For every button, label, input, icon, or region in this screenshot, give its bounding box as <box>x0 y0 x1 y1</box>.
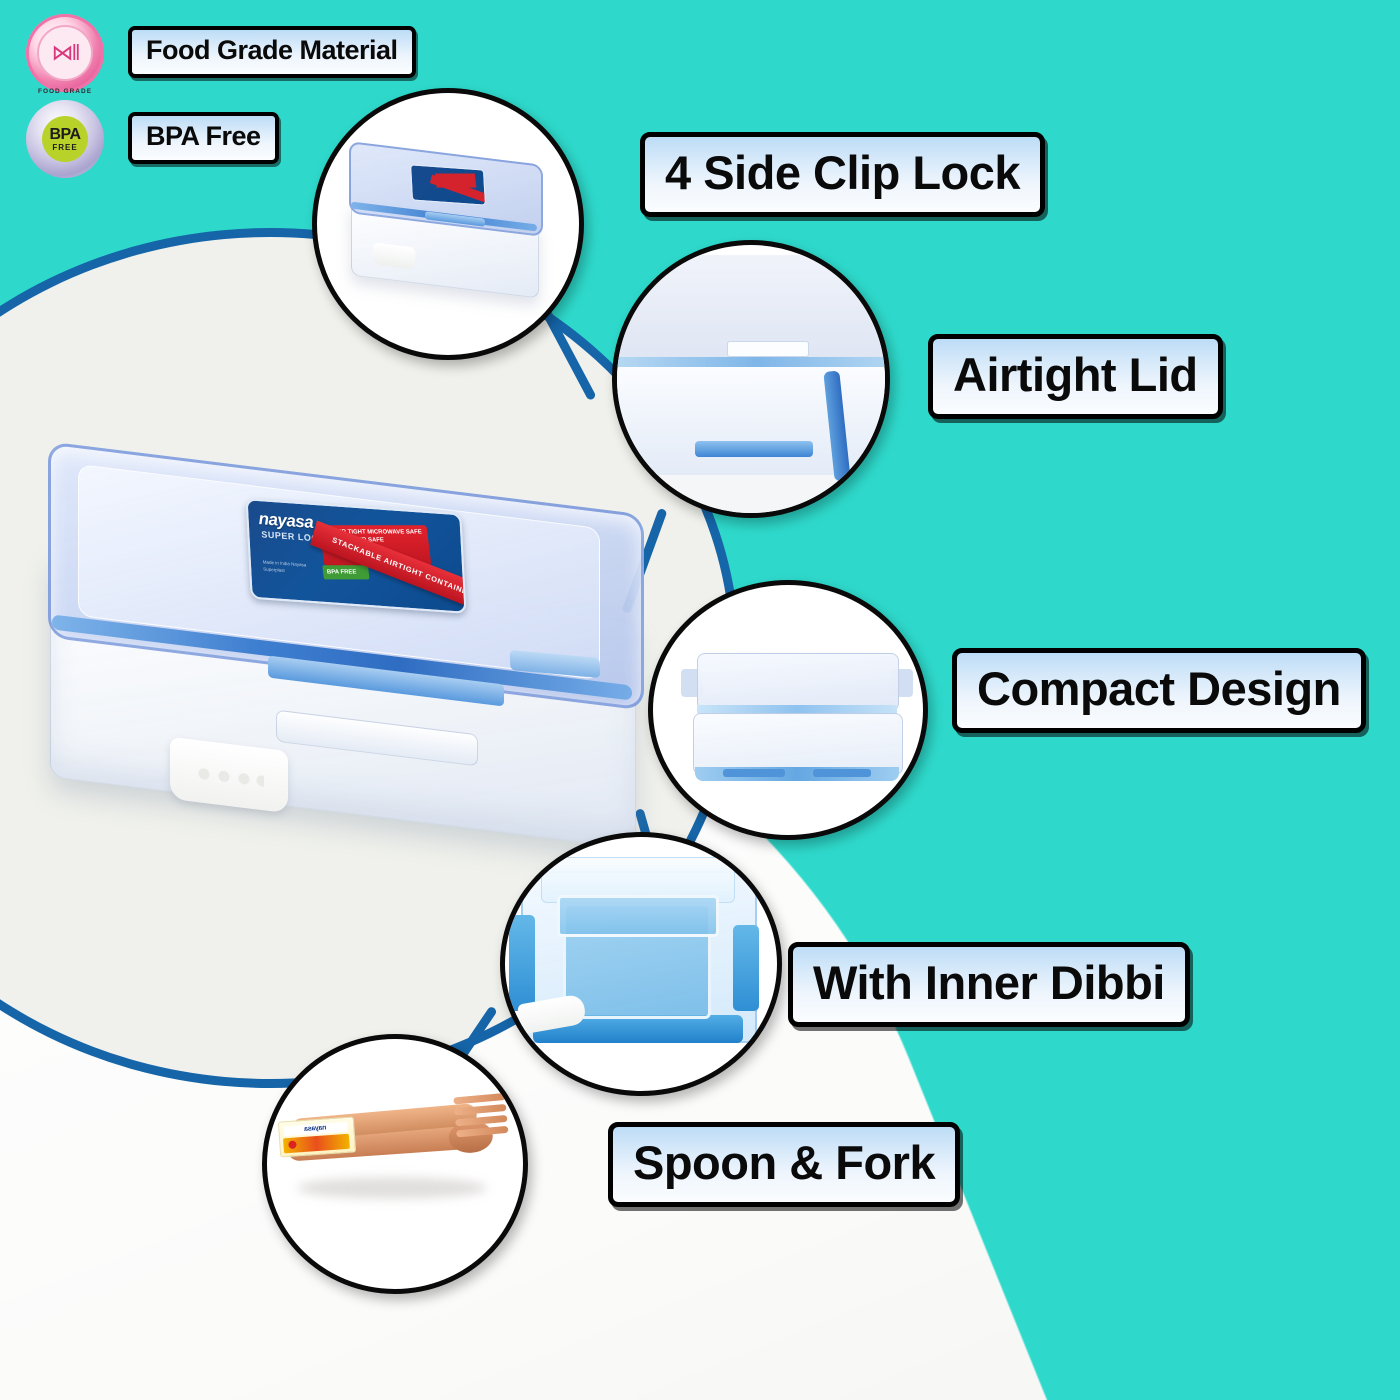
callout-circle-spoon-fork: nayasa <box>262 1034 528 1294</box>
sticker-green-text: BPA FREE <box>326 565 369 579</box>
feature-label-clip-lock: 4 Side Clip Lock <box>640 132 1045 217</box>
c4-clip-right <box>733 925 759 1011</box>
c2-blue-seal <box>612 357 890 367</box>
c4-clip-left <box>509 915 535 1011</box>
product-label-sticker: nayasa SUPER LOCK WATER TIGHT MICROWAVE … <box>246 498 467 614</box>
c5-fork-tines <box>453 1093 513 1142</box>
infographic-canvas: nayasa SUPER LOCK WATER TIGHT MICROWAVE … <box>0 0 1400 1400</box>
c5-shadow <box>297 1177 487 1199</box>
c1-sticker <box>410 164 486 205</box>
feature-label-airtight-lid: Airtight Lid <box>928 334 1223 419</box>
c4-inner-dibbi-lid <box>557 895 719 937</box>
c3-body <box>693 713 903 775</box>
c2-lid-tab <box>727 341 809 357</box>
callout-circle-compact-design <box>648 580 928 840</box>
bpa-free-inner: BPA FREE <box>42 116 88 162</box>
inner-container-icon <box>505 837 777 1091</box>
sticker-green-block: BPA FREE <box>322 565 369 579</box>
c2-surface <box>612 473 890 513</box>
badge-label-food-grade: Food Grade Material <box>128 26 416 78</box>
badge-label-bpa-free: BPA Free <box>128 112 279 164</box>
container-closed-icon <box>317 93 579 355</box>
c3-lid <box>697 653 899 711</box>
food-grade-icon: ⋈‖ FOOD GRADE <box>26 14 104 92</box>
bpa-line2: FREE <box>52 144 77 152</box>
cutlery-icon: nayasa <box>267 1039 523 1289</box>
bpa-line1: BPA <box>49 127 80 143</box>
c5-paper-wrapper: nayasa <box>278 1116 356 1157</box>
container-flat-icon <box>653 585 923 835</box>
main-product-container: nayasa SUPER LOCK WATER TIGHT MICROWAVE … <box>40 468 660 838</box>
product-cutlery-holder <box>170 737 288 813</box>
feature-label-inner-dibbi: With Inner Dibbi <box>788 942 1190 1027</box>
fork-knife-glyph: ⋈‖ <box>51 42 78 64</box>
feature-label-spoon-fork: Spoon & Fork <box>608 1122 960 1207</box>
food-grade-ring-text: FOOD GRADE <box>38 88 92 95</box>
c3-clip-right <box>813 769 871 777</box>
feature-label-compact-design: Compact Design <box>952 648 1366 733</box>
callout-circle-inner-dibbi <box>500 832 782 1096</box>
c2-clip <box>695 441 813 457</box>
food-grade-inner: ⋈‖ FOOD GRADE <box>37 25 93 81</box>
bpa-free-icon: BPA FREE <box>26 100 104 178</box>
c3-clip-left <box>723 769 785 777</box>
callout-circle-airtight-lid <box>612 240 890 518</box>
lid-closeup-icon <box>617 245 885 513</box>
callout-circle-clip-lock <box>312 88 584 360</box>
sticker-fineprint: Made in India Nayasa Superplast <box>263 559 316 576</box>
